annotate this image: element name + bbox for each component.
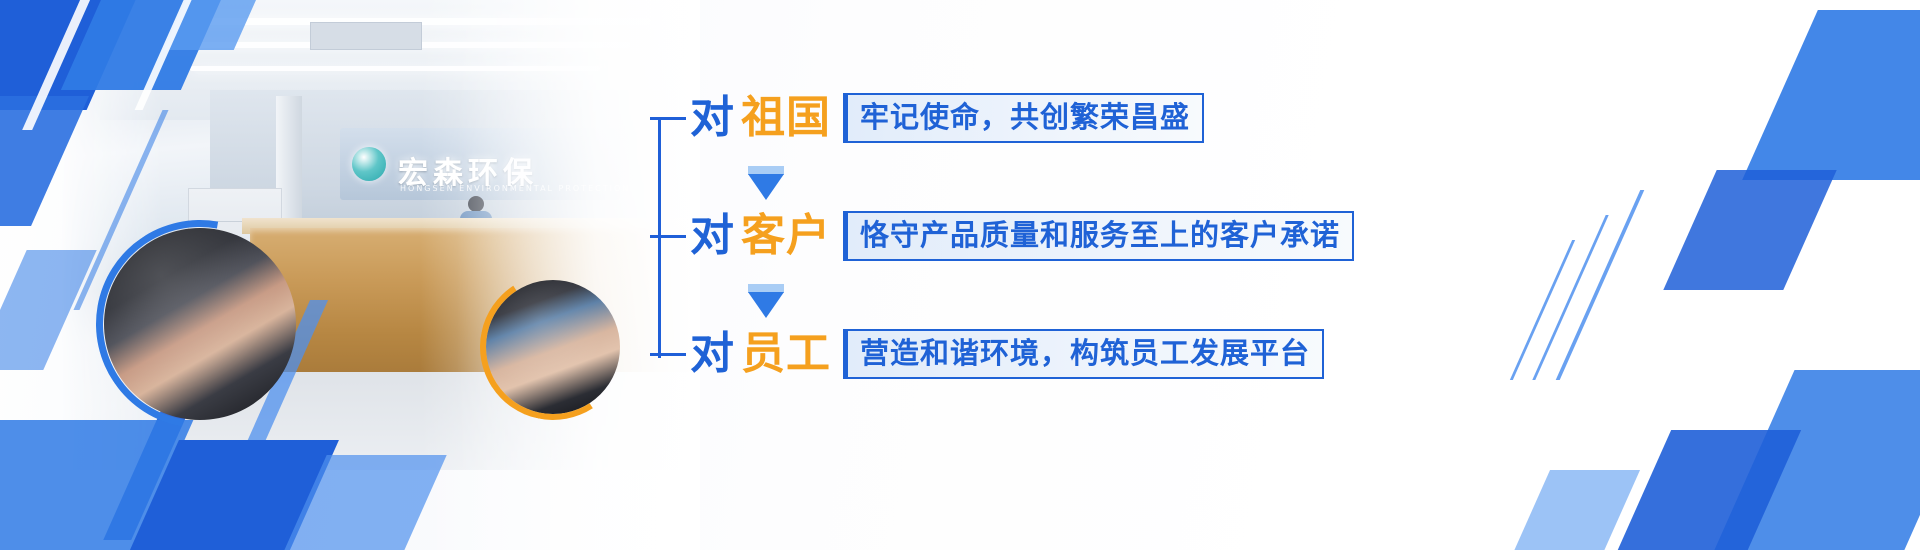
value-heading-country: 对祖国 [690,96,831,140]
value-prefix: 对 [690,210,735,261]
value-prefix: 对 [690,92,735,143]
value-statement-country: 牢记使命，共创繁荣昌盛 [843,93,1204,143]
value-prefix: 对 [690,328,735,379]
branch-connector [650,235,686,238]
value-keyword: 员工 [741,328,831,379]
down-arrow-1-icon [748,174,784,200]
value-keyword: 客户 [741,210,831,261]
value-statement-employee: 营造和谐环境，构筑员工发展平台 [843,329,1324,379]
value-row-employee: 对员工 营造和谐环境，构筑员工发展平台 [650,328,1324,380]
branch-connector [650,353,686,356]
value-heading-customer: 对客户 [690,214,831,258]
value-row-customer: 对客户 恪守产品质量和服务至上的客户承诺 [650,210,1354,262]
value-heading-employee: 对员工 [690,332,831,376]
ceiling-vent [310,22,422,50]
value-statement-customer: 恪守产品质量和服务至上的客户承诺 [843,211,1354,261]
value-keyword: 祖国 [741,92,831,143]
branch-connector [650,117,686,120]
value-row-country: 对祖国 牢记使命，共创繁荣昌盛 [650,92,1204,144]
down-arrow-2-icon [748,292,784,318]
company-values-banner: 宏森环保 HONGSEN ENVIRONMENTAL PROTECTION [0,0,1920,550]
values-list: 对祖国 牢记使命，共创繁荣昌盛 对客户 恪守产品质量和服务至上的客户承诺 对员工… [650,78,1370,388]
company-logo-icon [352,147,386,181]
